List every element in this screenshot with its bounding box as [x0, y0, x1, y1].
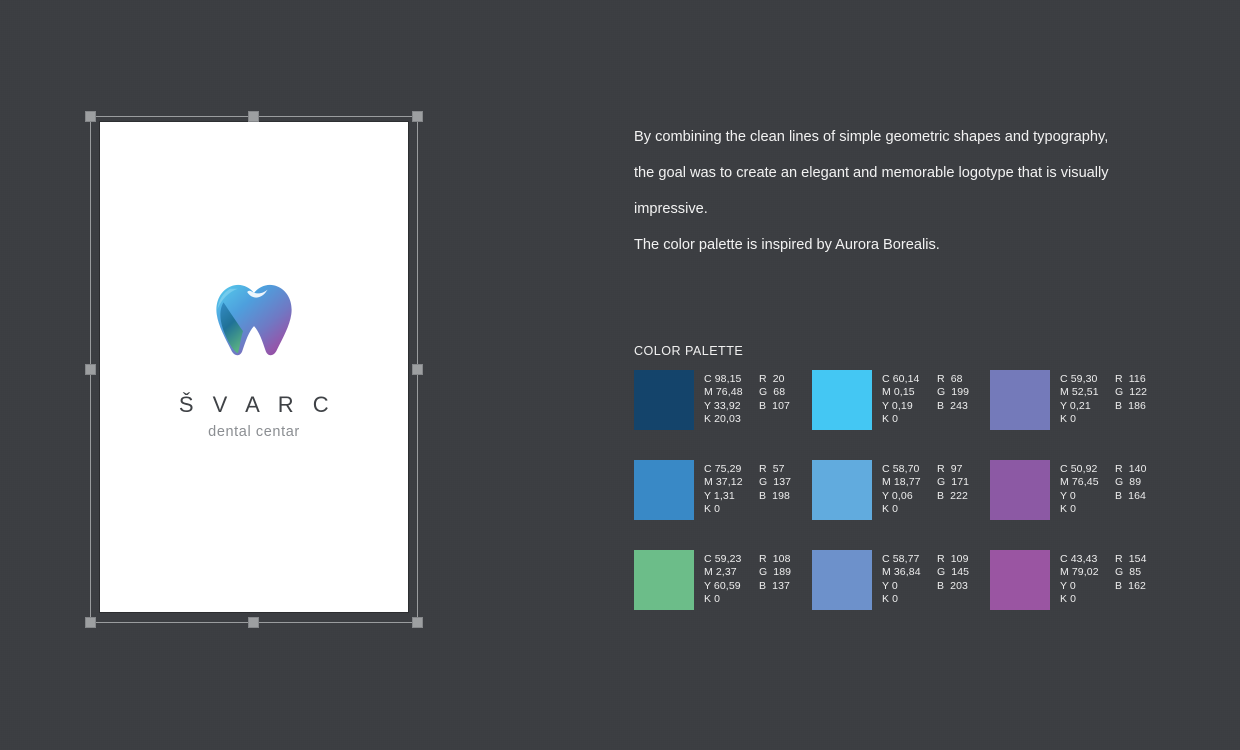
selection-handle-top-right[interactable]: [412, 111, 423, 122]
swatch-values: C 60,14M 0,15Y 0,19K 0R 68G 199B 243: [882, 373, 987, 427]
swatch-rgb-values: R 116G 122B 186: [1115, 373, 1165, 427]
palette-swatch-3[interactable]: C 59,30M 52,51Y 0,21K 0R 116G 122B 186: [990, 370, 1168, 460]
swatch-values: C 75,29M 37,12Y 1,31K 0R 57G 137B 198: [704, 463, 809, 517]
swatch-color-chip[interactable]: [634, 460, 694, 520]
swatch-color-chip[interactable]: [990, 550, 1050, 610]
swatch-cmyk-values: C 60,14M 0,15Y 0,19K 0: [882, 373, 937, 427]
swatch-cmyk-values: C 50,92M 76,45Y 0K 0: [1060, 463, 1115, 517]
selection-handle-bottom-center[interactable]: [248, 617, 259, 628]
description-line-2: the goal was to create an elegant and me…: [634, 155, 1164, 191]
color-palette-grid: C 98,15M 76,48Y 33,92K 20,03R 20G 68B 10…: [634, 370, 1174, 640]
palette-swatch-9[interactable]: C 43,43M 79,02Y 0K 0R 154G 85B 162: [990, 550, 1168, 640]
logo-wordmark: Š V A R C: [100, 394, 408, 416]
swatch-color-chip[interactable]: [812, 460, 872, 520]
palette-swatch-4[interactable]: C 75,29M 37,12Y 1,31K 0R 57G 137B 198: [634, 460, 812, 550]
swatch-values: C 50,92M 76,45Y 0K 0R 140G 89B 164: [1060, 463, 1165, 517]
swatch-cmyk-values: C 59,23M 2,37Y 60,59K 0: [704, 553, 759, 607]
swatch-values: C 58,77M 36,84Y 0K 0R 109G 145B 203: [882, 553, 987, 607]
swatch-rgb-values: R 97G 171B 222: [937, 463, 987, 517]
description-line-1: By combining the clean lines of simple g…: [634, 119, 1164, 155]
right-panel: By combining the clean lines of simple g…: [634, 0, 1194, 750]
palette-swatch-8[interactable]: C 58,77M 36,84Y 0K 0R 109G 145B 203: [812, 550, 990, 640]
logo-block: Š V A R C dental centar: [100, 282, 408, 440]
swatch-cmyk-values: C 58,77M 36,84Y 0K 0: [882, 553, 937, 607]
swatch-rgb-values: R 140G 89B 164: [1115, 463, 1165, 517]
swatch-rgb-values: R 57G 137B 198: [759, 463, 809, 517]
color-palette-heading: COLOR PALETTE: [634, 344, 743, 358]
artboard-area: Š V A R C dental centar: [0, 0, 620, 750]
swatch-rgb-values: R 154G 85B 162: [1115, 553, 1165, 607]
swatch-color-chip[interactable]: [812, 370, 872, 430]
selection-handle-top-center[interactable]: [248, 111, 259, 122]
selection-handle-bottom-left[interactable]: [85, 617, 96, 628]
swatch-cmyk-values: C 75,29M 37,12Y 1,31K 0: [704, 463, 759, 517]
swatch-cmyk-values: C 98,15M 76,48Y 33,92K 20,03: [704, 373, 759, 427]
swatch-rgb-values: R 68G 199B 243: [937, 373, 987, 427]
swatch-values: C 98,15M 76,48Y 33,92K 20,03R 20G 68B 10…: [704, 373, 809, 427]
selection-handle-middle-right[interactable]: [412, 364, 423, 375]
palette-swatch-6[interactable]: C 50,92M 76,45Y 0K 0R 140G 89B 164: [990, 460, 1168, 550]
description-block: By combining the clean lines of simple g…: [634, 119, 1164, 263]
swatch-color-chip[interactable]: [634, 550, 694, 610]
swatch-color-chip[interactable]: [812, 550, 872, 610]
palette-swatch-7[interactable]: C 59,23M 2,37Y 60,59K 0R 108G 189B 137: [634, 550, 812, 640]
swatch-color-chip[interactable]: [634, 370, 694, 430]
description-line-3: impressive.: [634, 191, 1164, 227]
swatch-rgb-values: R 108G 189B 137: [759, 553, 809, 607]
swatch-values: C 59,23M 2,37Y 60,59K 0R 108G 189B 137: [704, 553, 809, 607]
swatch-color-chip[interactable]: [990, 370, 1050, 430]
swatch-values: C 59,30M 52,51Y 0,21K 0R 116G 122B 186: [1060, 373, 1165, 427]
selection-handle-middle-left[interactable]: [85, 364, 96, 375]
selection-handle-bottom-right[interactable]: [412, 617, 423, 628]
swatch-rgb-values: R 20G 68B 107: [759, 373, 809, 427]
swatch-rgb-values: R 109G 145B 203: [937, 553, 987, 607]
logo-tagline: dental centar: [100, 425, 408, 440]
tooth-logo-icon: [211, 282, 297, 360]
palette-swatch-5[interactable]: C 58,70M 18,77Y 0,06K 0R 97G 171B 222: [812, 460, 990, 550]
document-canvas[interactable]: Š V A R C dental centar: [100, 122, 408, 612]
swatch-color-chip[interactable]: [990, 460, 1050, 520]
swatch-cmyk-values: C 43,43M 79,02Y 0K 0: [1060, 553, 1115, 607]
swatch-values: C 58,70M 18,77Y 0,06K 0R 97G 171B 222: [882, 463, 987, 517]
swatch-values: C 43,43M 79,02Y 0K 0R 154G 85B 162: [1060, 553, 1165, 607]
palette-swatch-2[interactable]: C 60,14M 0,15Y 0,19K 0R 68G 199B 243: [812, 370, 990, 460]
description-line-4: The color palette is inspired by Aurora …: [634, 227, 1164, 263]
selection-handle-top-left[interactable]: [85, 111, 96, 122]
swatch-cmyk-values: C 59,30M 52,51Y 0,21K 0: [1060, 373, 1115, 427]
palette-swatch-1[interactable]: C 98,15M 76,48Y 33,92K 20,03R 20G 68B 10…: [634, 370, 812, 460]
swatch-cmyk-values: C 58,70M 18,77Y 0,06K 0: [882, 463, 937, 517]
